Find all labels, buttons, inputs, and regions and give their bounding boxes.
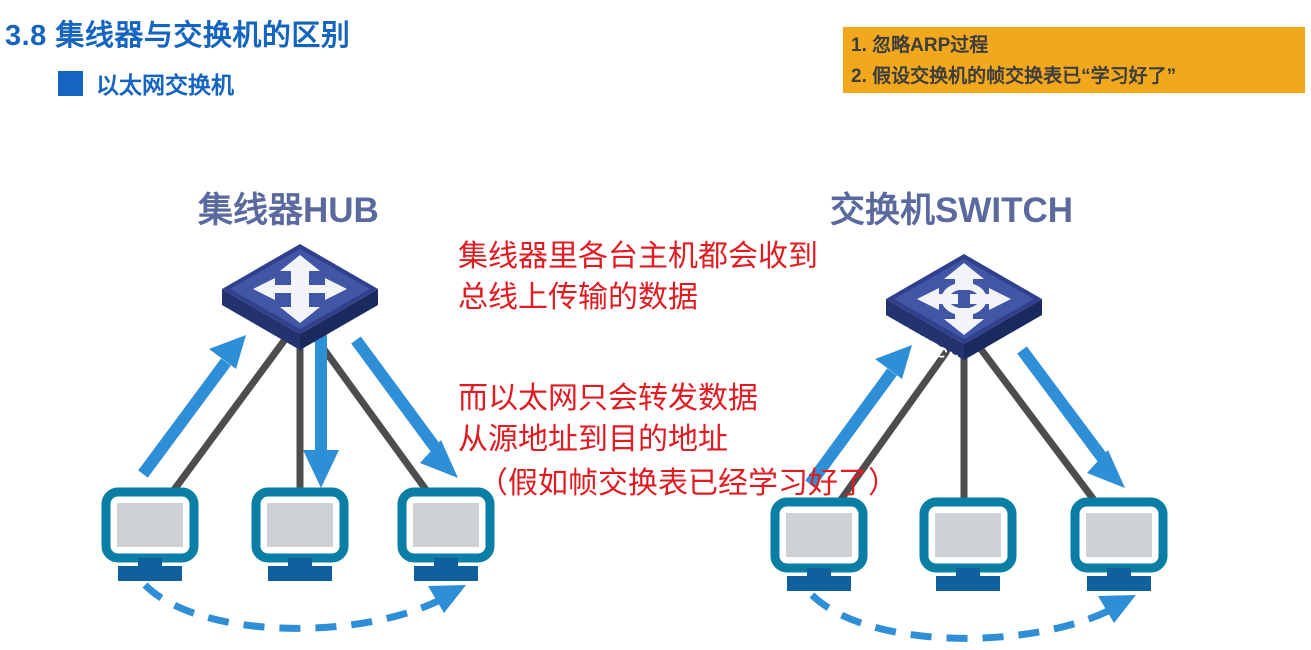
hub-annotation: 集线器里各台主机都会收到 总线上传输的数据 bbox=[458, 236, 818, 318]
host-pc[interactable] bbox=[1075, 502, 1163, 591]
switch-annotation-parenthetical: （假如帧交换表已经学习好了） bbox=[478, 463, 898, 504]
hub-hosts bbox=[106, 492, 490, 581]
host-pc[interactable] bbox=[256, 492, 344, 581]
switch-annotation-line-2: 从源地址到目的地址 bbox=[458, 419, 758, 460]
network-diagram: SWITCH bbox=[0, 0, 1311, 650]
flow-host1-to-hub bbox=[143, 335, 246, 474]
host-pc[interactable] bbox=[402, 492, 490, 581]
hub-device-icon[interactable] bbox=[222, 244, 378, 350]
slide-canvas: 3.8 集线器与交换机的区别 以太网交换机 1. 忽略ARP过程 2. 假设交换… bbox=[0, 0, 1311, 650]
switch-annotation: 而以太网只会转发数据 从源地址到目的地址 bbox=[458, 378, 758, 460]
hub-dashed-flow bbox=[145, 585, 466, 628]
host-pc[interactable] bbox=[775, 502, 863, 591]
switch-hosts bbox=[775, 502, 1163, 591]
hub-annotation-line-1: 集线器里各台主机都会收到 bbox=[458, 236, 818, 277]
hub-annotation-line-2: 总线上传输的数据 bbox=[458, 277, 818, 318]
host-pc[interactable] bbox=[924, 502, 1012, 591]
switch-annotation-line-1: 而以太网只会转发数据 bbox=[458, 378, 758, 419]
switch-dashed-flow bbox=[812, 595, 1136, 638]
host-pc[interactable] bbox=[106, 492, 194, 581]
hub-cables bbox=[168, 330, 432, 498]
